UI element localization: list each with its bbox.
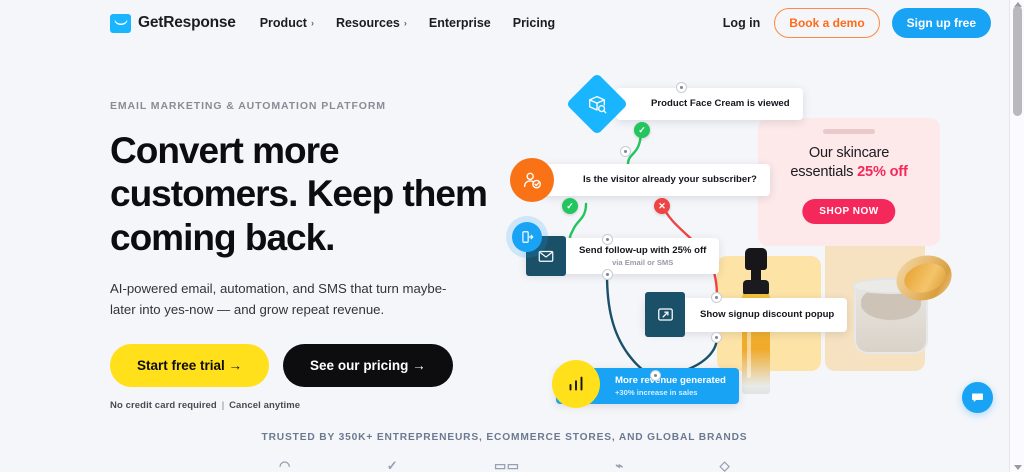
chevron-right-icon: › bbox=[404, 19, 407, 28]
connector-dot[interactable] bbox=[650, 370, 661, 381]
node-send-title: Send follow-up with 25% off bbox=[579, 245, 706, 257]
branch-yes-badge: ✓ bbox=[634, 122, 650, 138]
hero-content: EMAIL MARKETING & AUTOMATION PLATFORM Co… bbox=[110, 100, 500, 411]
partner-logos-row: ◠ ✓ ▭▭ ⌁ ◇ bbox=[0, 458, 1009, 472]
send-action-icon bbox=[512, 222, 542, 252]
connector-dot[interactable] bbox=[676, 82, 687, 93]
node-send-subtitle: via Email or SMS bbox=[579, 258, 706, 267]
node-send-label: Send follow-up with 25% off via Email or… bbox=[568, 245, 719, 267]
node-revenue-title: More revenue generated bbox=[615, 375, 726, 387]
node-popup-label: Show signup discount popup bbox=[689, 309, 847, 321]
node-trigger-label: Product Face Cream is viewed bbox=[640, 98, 803, 110]
partner-logo: ✓ bbox=[387, 458, 398, 472]
envelope-icon bbox=[110, 14, 131, 33]
partner-logo: ◠ bbox=[279, 458, 291, 472]
nav-item-pricing-label: Pricing bbox=[513, 16, 555, 30]
branch-no-badge: ✕ bbox=[654, 198, 670, 214]
connector-dot[interactable] bbox=[620, 146, 631, 157]
book-demo-button[interactable]: Book a demo bbox=[774, 8, 879, 38]
node-revenue-subtitle: +30% increase in sales bbox=[615, 388, 726, 397]
chevron-right-icon: › bbox=[311, 19, 314, 28]
node-trigger-title: Product Face Cream is viewed bbox=[651, 98, 790, 110]
hero-illustration: Our skincare essentials 25% off SHOP NOW bbox=[500, 60, 1000, 440]
nav-item-enterprise-label: Enterprise bbox=[429, 16, 491, 30]
scroll-down-arrow-icon[interactable] bbox=[1014, 465, 1022, 470]
brand-logo[interactable]: GetResponse bbox=[110, 14, 236, 33]
main-nav: Product › Resources › Enterprise Pricing bbox=[260, 16, 555, 30]
partner-logo: ⌁ bbox=[615, 458, 623, 472]
fineprint-separator: | bbox=[222, 400, 225, 411]
partner-logo: ▭▭ bbox=[494, 458, 519, 472]
fineprint-no-card: No credit card required bbox=[110, 400, 217, 411]
nav-item-product-label: Product bbox=[260, 16, 307, 30]
workflow-node-condition[interactable]: Is the visitor already your subscriber? bbox=[544, 164, 770, 196]
node-revenue-label: More revenue generated +30% increase in … bbox=[604, 375, 739, 397]
node-condition-label: Is the visitor already your subscriber? bbox=[572, 174, 770, 186]
scrollbar-thumb[interactable] bbox=[1013, 6, 1022, 116]
fineprint-cancel: Cancel anytime bbox=[229, 400, 300, 411]
hero-eyebrow: EMAIL MARKETING & AUTOMATION PLATFORM bbox=[110, 100, 500, 112]
start-free-trial-button[interactable]: Start free trial → bbox=[110, 344, 269, 387]
workflow-node-trigger[interactable]: Product Face Cream is viewed bbox=[616, 88, 803, 120]
page-title: Convert more customers. Keep them coming… bbox=[110, 129, 500, 259]
nav-item-resources[interactable]: Resources › bbox=[336, 16, 407, 30]
node-condition-title: Is the visitor already your subscriber? bbox=[583, 174, 757, 186]
nav-item-resources-label: Resources bbox=[336, 16, 400, 30]
connector-dot[interactable] bbox=[602, 234, 613, 245]
trusted-by-text: TRUSTED BY 350K+ ENTREPRENEURS, ECOMMERC… bbox=[0, 432, 1009, 443]
page-scrollbar[interactable] bbox=[1009, 0, 1024, 472]
popup-window-icon bbox=[645, 292, 685, 337]
chat-bubble-icon[interactable] bbox=[962, 382, 993, 413]
sign-up-free-button[interactable]: Sign up free bbox=[892, 8, 991, 38]
branch-yes-badge: ✓ bbox=[562, 198, 578, 214]
header-actions: Log in Book a demo Sign up free bbox=[723, 8, 991, 38]
partner-logo: ◇ bbox=[720, 458, 730, 472]
hero-cta-row: Start free trial → See our pricing → bbox=[110, 344, 500, 387]
login-link[interactable]: Log in bbox=[723, 16, 761, 30]
hero-fineprint: No credit card required | Cancel anytime bbox=[110, 400, 500, 411]
connector-dot[interactable] bbox=[602, 269, 613, 280]
connector-dot[interactable] bbox=[711, 292, 722, 303]
nav-item-product[interactable]: Product › bbox=[260, 16, 314, 30]
see-our-pricing-button[interactable]: See our pricing → bbox=[283, 344, 453, 387]
node-popup-title: Show signup discount popup bbox=[700, 309, 834, 321]
bar-chart-icon bbox=[552, 360, 600, 408]
landing-page: GetResponse Product › Resources › Enterp… bbox=[0, 0, 1024, 472]
hero-subhead: AI-powered email, automation, and SMS th… bbox=[110, 278, 472, 321]
site-header: GetResponse Product › Resources › Enterp… bbox=[0, 0, 1009, 46]
user-check-icon bbox=[510, 158, 554, 202]
nav-item-enterprise[interactable]: Enterprise bbox=[429, 16, 491, 30]
brand-name: GetResponse bbox=[138, 14, 236, 32]
connector-dot[interactable] bbox=[711, 332, 722, 343]
nav-item-pricing[interactable]: Pricing bbox=[513, 16, 555, 30]
